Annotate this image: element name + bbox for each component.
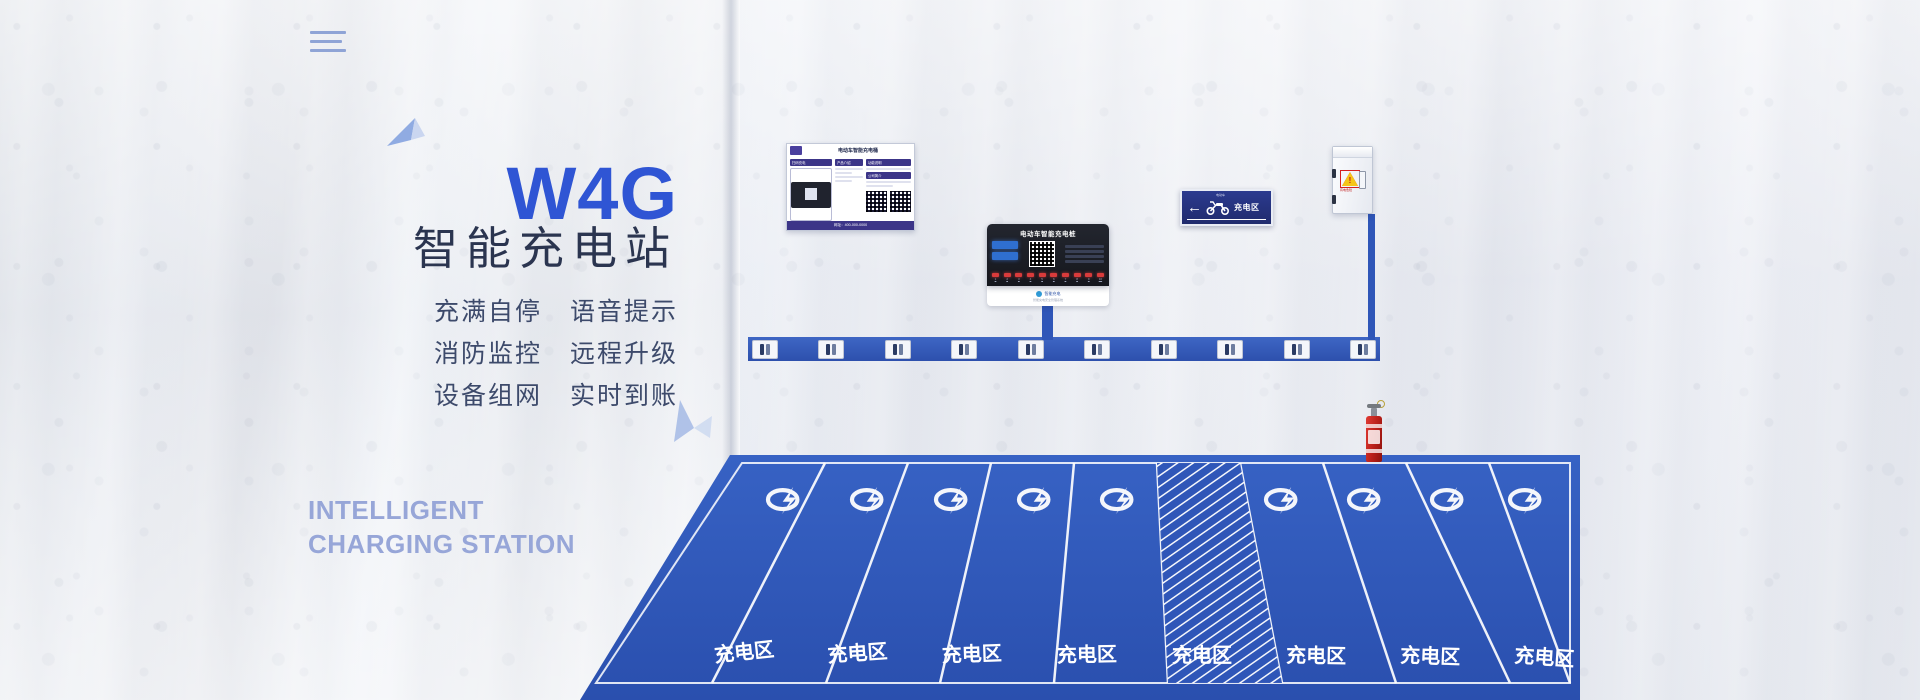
qr-code-icon [890,191,911,212]
qr-code-icon[interactable] [1029,241,1055,267]
poster-header: 电动车智能充电桶 [787,144,914,157]
poster-text-line [866,168,911,170]
menu-bar-1 [310,31,346,34]
bay-label: 充电区 [941,641,1002,667]
poster-tag: 功能说明 [866,159,911,166]
poster-tag: 扫码充电 [790,159,832,166]
poster-text-line [835,180,852,182]
port-number: 2 [1004,277,1011,281]
poster-body: 扫码充电 产品介绍 功能说明 公司简介 [787,157,914,223]
pile-port[interactable]: 4 [1027,273,1034,281]
pile-port[interactable]: 9 [1085,273,1092,281]
port-number: 7 [1062,277,1069,281]
sign-text: 充电区 [1234,202,1260,213]
rail-socket[interactable] [1151,340,1177,359]
port-number: 4 [1027,277,1034,281]
poster-text-line [835,172,852,174]
rail-socket[interactable] [1084,340,1110,359]
feature-item: 充满自停 [434,292,542,328]
info-poster: 电动车智能充电桶 扫码充电 产品介绍 功能说明 公司简介 [786,143,915,231]
port-number: 3 [1015,277,1022,281]
pile-info-line [1065,260,1104,263]
pile-info-line [1065,250,1104,253]
fire-extinguisher-icon [1363,400,1385,462]
rail-socket[interactable] [885,340,911,359]
cabinet-warning-label: 有电危险 [1340,188,1352,192]
pile-lcd-group [992,241,1018,267]
scooter-icon [1206,200,1230,215]
port-number: 6 [1050,277,1057,281]
subtitle: 智能充电站 [413,212,678,277]
rail-socket[interactable] [1284,340,1310,359]
feature-item: 消防监控 [434,334,542,370]
extinguisher-label [1368,430,1380,444]
charging-pile[interactable]: 电动车智能充电桩 1 2 3 4 [987,224,1109,306]
pile-riser [1042,306,1053,340]
pile-info-line [1065,255,1104,258]
pile-port[interactable]: 8 [1074,273,1081,281]
menu-bar-3 [310,49,346,52]
pile-port[interactable]: 2 [1004,273,1011,281]
poster-column-mid: 产品介绍 [835,159,863,221]
rail-socket[interactable] [752,340,778,359]
port-number: 8 [1074,277,1081,281]
rail-socket[interactable] [951,340,977,359]
poster-text-line [866,181,911,183]
menu-bar-2 [310,40,342,43]
poster-text-line [835,176,863,178]
poster-title: 电动车智能充电桶 [805,147,911,154]
parking-floor: 充电区 充电区 充电区 充电区 充电区 充电区 充电区 充电区 [560,455,1580,700]
cabinet-hinge [1332,169,1336,178]
pile-port[interactable]: 5 [1039,273,1046,281]
feature-item: 实时到账 [570,376,678,412]
rail-socket[interactable] [1217,340,1243,359]
cabinet-top [1333,147,1372,158]
sign-top-label: 电动车 [1216,193,1225,197]
left-arrow-icon: ← [1187,200,1202,215]
port-number: 10 [1097,277,1104,281]
decor-dart-top [385,118,431,166]
cabinet-feed-line [1368,214,1375,340]
qr-code-icon [866,191,887,212]
poster-tag: 产品介绍 [835,159,863,166]
port-number: 1 [992,277,999,281]
feature-item: 设备组网 [434,376,542,412]
poster-column-right: 功能说明 公司简介 [866,159,911,221]
brand-dot-icon [1036,291,1042,297]
pile-brand-sub: 智能充电安全管理系统 [1033,298,1063,302]
pile-info-lines [1065,241,1104,267]
feature-item: 语音提示 [570,292,678,328]
pile-middle [992,241,1104,267]
hamburger-menu-icon[interactable] [310,31,346,58]
english-tagline: INTELLIGENT CHARGING STATION [308,493,575,562]
port-number: 5 [1039,277,1046,281]
pile-port[interactable]: 6 [1050,273,1057,281]
pile-info-line [1065,245,1104,248]
poster-section-label: 公司简介 [866,172,911,179]
poster-column-left: 扫码充电 [790,159,832,221]
pile-brand: 智能充电 [1036,291,1061,297]
pile-port[interactable]: 10 [1097,273,1104,281]
pile-footer: 智能充电 智能充电安全管理系统 [987,286,1109,306]
port-number: 9 [1085,277,1092,281]
extinguisher-band [1366,449,1382,453]
pile-port[interactable]: 1 [992,273,999,281]
bay-label: 充电区 [1400,643,1461,669]
lcd-display [992,252,1018,260]
cabinet-vent [1359,171,1366,189]
poster-footer-text: 网址：400-000-0000 [834,223,867,228]
decor-dart-bottom [672,398,720,454]
lcd-display [992,241,1018,249]
extinguisher-band [1366,424,1382,428]
socket-rail [748,337,1380,361]
bay-label: 充电区 [1172,643,1232,667]
poster-logo [790,146,802,155]
high-voltage-warning-icon [1342,172,1358,186]
pile-panel: 电动车智能充电桩 1 2 3 4 [987,224,1109,286]
electrical-cabinet: 有电危险 [1332,146,1373,214]
pile-port-row: 1 2 3 4 5 6 7 8 9 10 [992,273,1104,281]
poster-footer: 网址：400-000-0000 [787,221,914,230]
banner-stage: W4G 智能充电站 充满自停 语音提示 消防监控 远程升级 设备组网 实时到账 … [0,0,1920,700]
english-line-1: INTELLIGENT [308,493,575,527]
feature-list: 充满自停 语音提示 消防监控 远程升级 设备组网 实时到账 [434,292,678,412]
feature-item: 远程升级 [570,334,678,370]
poster-text-line [835,168,863,170]
sign-underline [1187,219,1266,221]
rail-socket[interactable] [1350,340,1376,359]
rail-socket[interactable] [1018,340,1044,359]
bay-label: 充电区 [1286,643,1346,668]
direction-sign: 电动车 ← 充电区 [1180,189,1273,226]
rail-socket[interactable] [818,340,844,359]
english-line-2: CHARGING STATION [308,527,575,561]
pile-title: 电动车智能充电桩 [992,228,1104,238]
pile-port[interactable]: 3 [1015,273,1022,281]
poster-diagram [790,168,832,221]
pile-port[interactable]: 7 [1062,273,1069,281]
cabinet-hinge [1332,195,1336,204]
bay-label: 充电区 [1057,642,1117,667]
poster-qr-group [866,191,911,212]
poster-text-line [866,185,893,187]
pile-brand-text: 智能充电 [1045,291,1061,297]
poster-device-figure [791,182,831,208]
